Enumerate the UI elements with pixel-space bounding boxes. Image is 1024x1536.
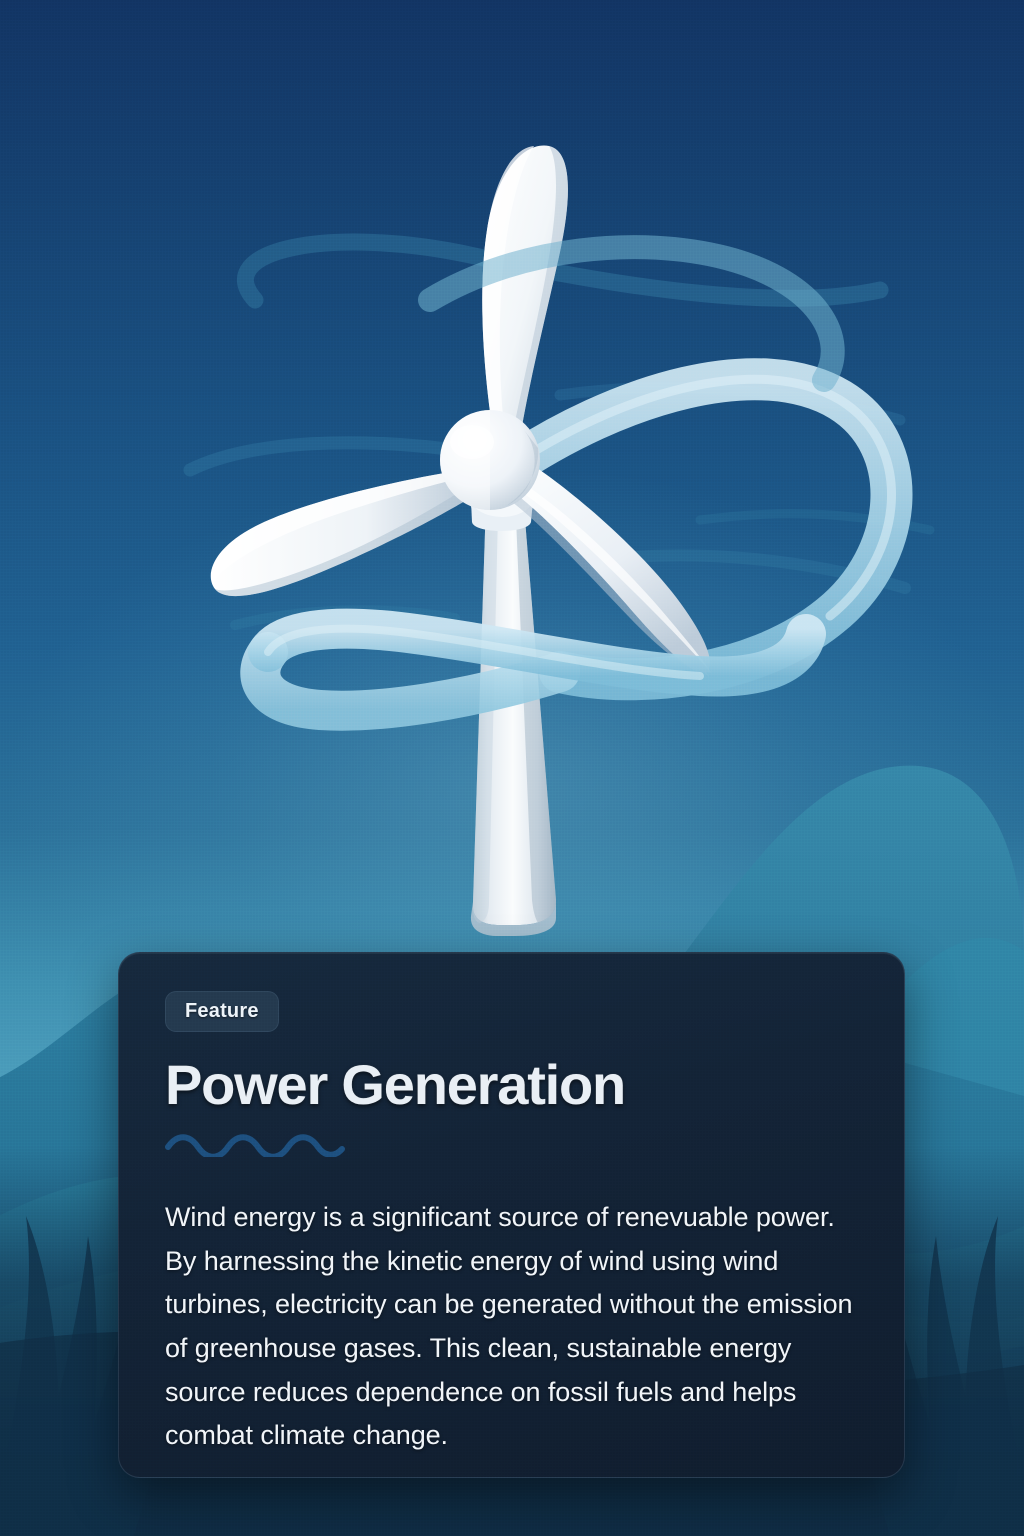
- page-title: Power Generation: [165, 1056, 858, 1115]
- feature-card: Feature Power Generation Wind energy is …: [118, 952, 905, 1478]
- body-paragraph: Wind energy is a significant source of r…: [165, 1196, 858, 1458]
- poster-root: Feature Power Generation Wind energy is …: [0, 0, 1024, 1536]
- turbine-blade-left: [211, 470, 470, 596]
- status-badge[interactable]: Feature: [165, 991, 279, 1032]
- turbine-hub: [440, 410, 540, 510]
- wave-divider-icon: [165, 1131, 345, 1157]
